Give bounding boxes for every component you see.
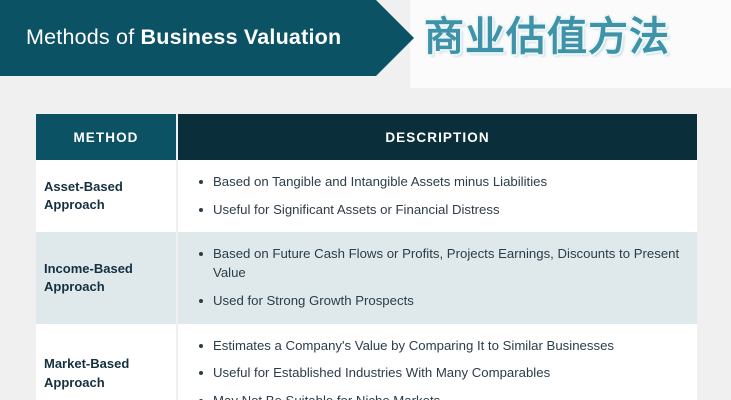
page-title-plain: Methods of: [26, 25, 141, 49]
table-row: Asset-Based Approach Based on Tangible a…: [36, 160, 697, 232]
method-label: Asset-Based Approach: [44, 178, 162, 215]
list-item: Estimates a Company's Value by Comparing…: [197, 337, 683, 356]
cell-method: Market-Based Approach: [36, 324, 178, 400]
description-bullet-list: Based on Future Cash Flows or Profits, P…: [197, 245, 683, 310]
cell-method: Asset-Based Approach: [36, 160, 178, 232]
page-title: Methods of Business Valuation: [0, 27, 341, 49]
description-bullet-list: Estimates a Company's Value by Comparing…: [197, 337, 683, 400]
page-background: Methods of Business Valuation 商业估值方法 MET…: [0, 0, 731, 400]
column-header-description: DESCRIPTION: [178, 114, 697, 160]
cell-description: Estimates a Company's Value by Comparing…: [178, 324, 697, 400]
method-label: Market-Based Approach: [44, 355, 162, 392]
list-item: May Not Be Suitable for Niche Markets: [197, 392, 683, 400]
column-header-method: METHOD: [36, 114, 178, 160]
table-row: Market-Based Approach Estimates a Compan…: [36, 324, 697, 400]
list-item: Used for Strong Growth Prospects: [197, 292, 683, 311]
table-row: Income-Based Approach Based on Future Ca…: [36, 232, 697, 323]
methods-table: METHOD DESCRIPTION Asset-Based Approach …: [36, 114, 697, 400]
list-item: Based on Future Cash Flows or Profits, P…: [197, 245, 683, 282]
header-banner: Methods of Business Valuation: [0, 0, 414, 76]
list-item: Based on Tangible and Intangible Assets …: [197, 173, 683, 192]
method-label: Income-Based Approach: [44, 260, 162, 297]
list-item: Useful for Significant Assets or Financi…: [197, 201, 683, 220]
cell-description: Based on Tangible and Intangible Assets …: [178, 160, 697, 232]
cell-description: Based on Future Cash Flows or Profits, P…: [178, 232, 697, 323]
headline-chinese: 商业估值方法: [424, 11, 670, 64]
cell-method: Income-Based Approach: [36, 232, 178, 323]
list-item: Useful for Established Industries With M…: [197, 364, 683, 383]
table-header-row: METHOD DESCRIPTION: [36, 114, 697, 160]
description-bullet-list: Based on Tangible and Intangible Assets …: [197, 173, 683, 219]
page-title-bold: Business Valuation: [141, 25, 342, 49]
